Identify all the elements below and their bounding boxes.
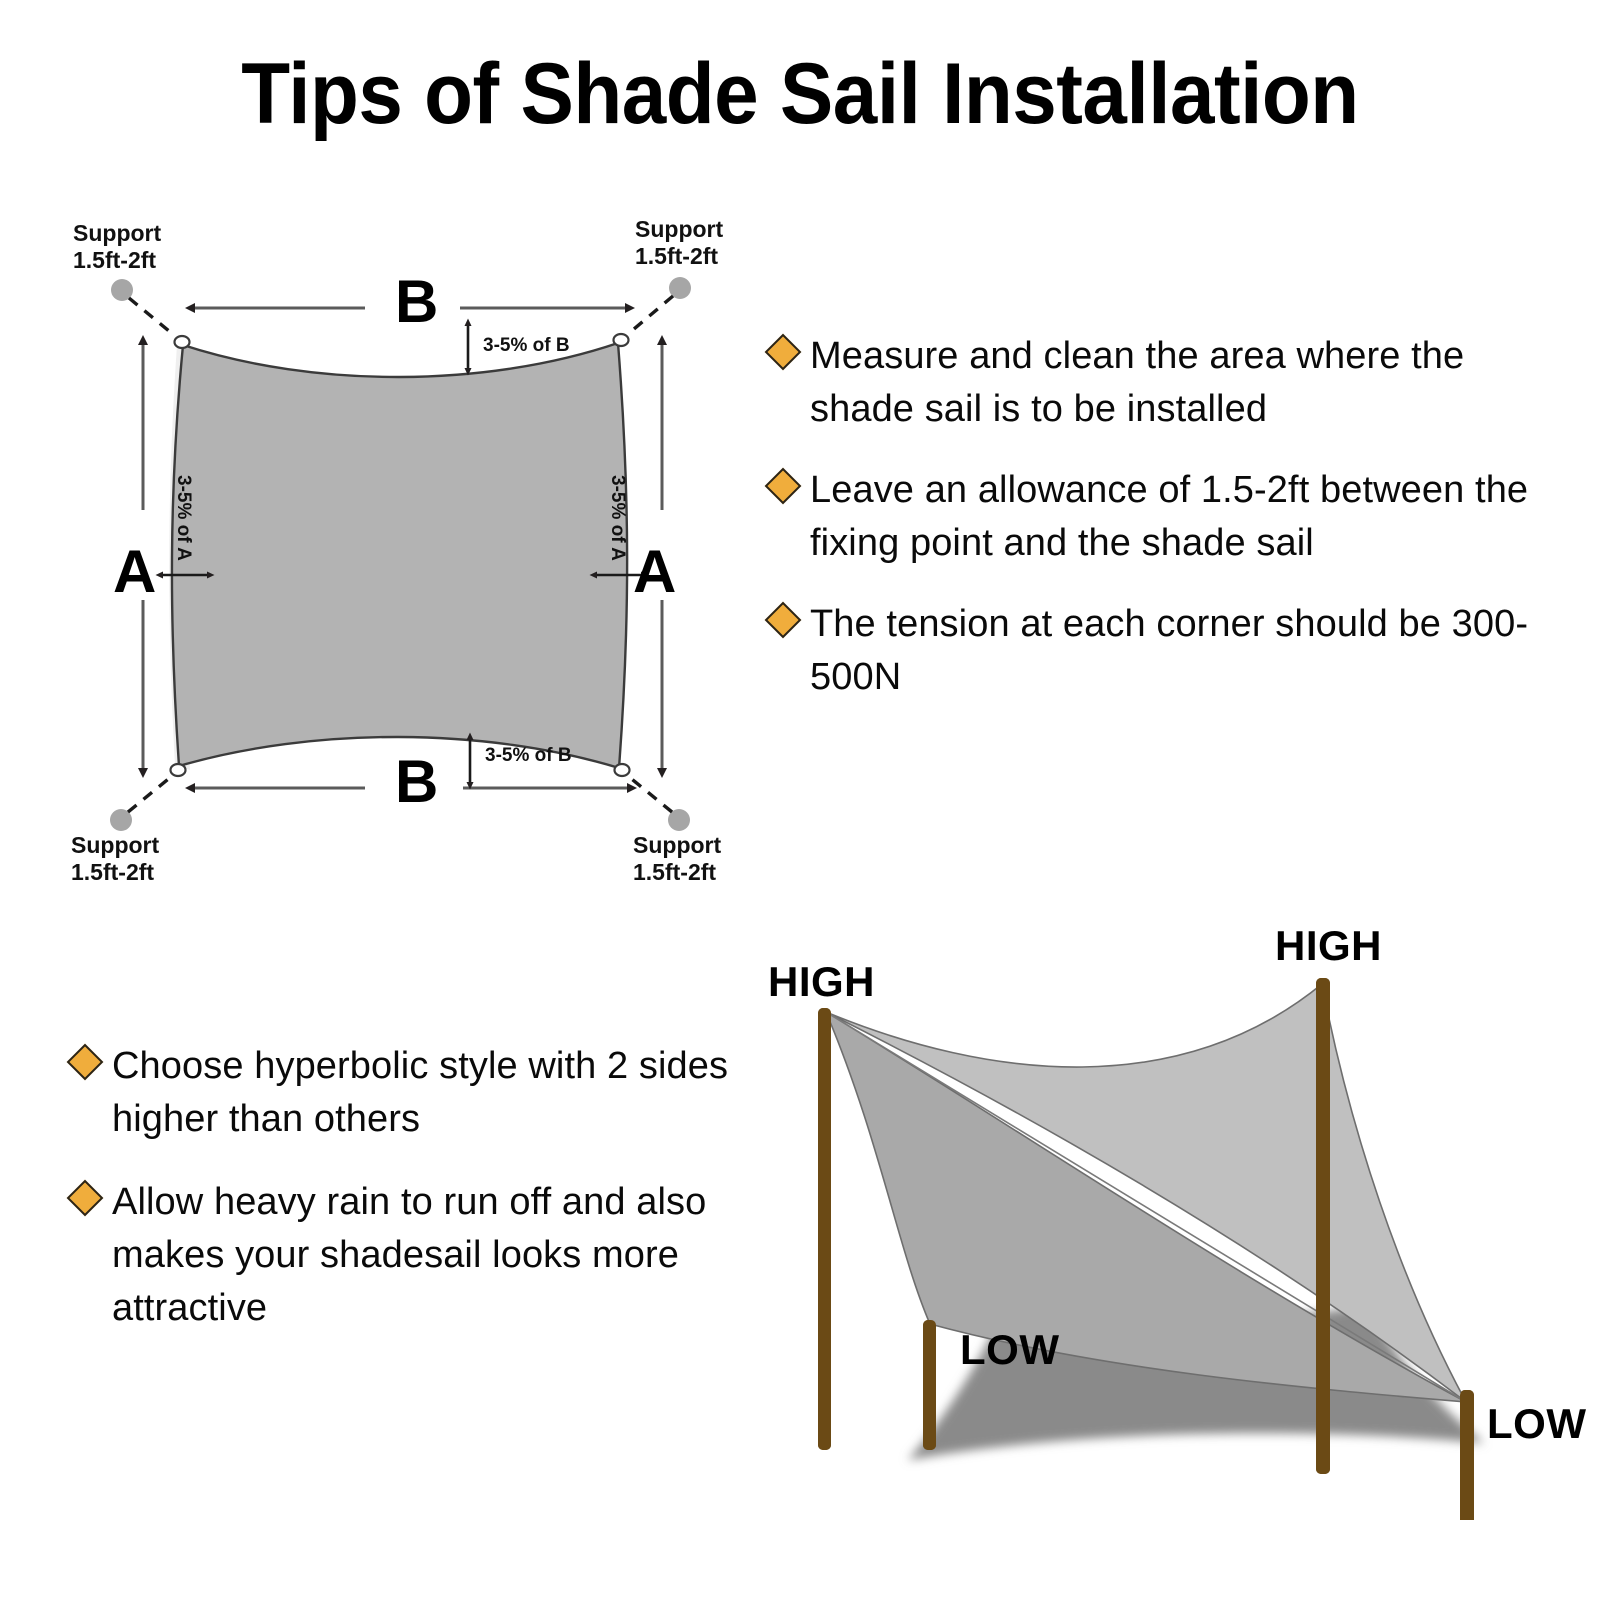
post-right-low-front <box>1460 1390 1474 1520</box>
label-post-left-low: LOW <box>960 1328 1059 1372</box>
list-item-text: Leave an allowance of 1.5-2ft between th… <box>810 464 1560 570</box>
shade-sail-shape <box>172 343 627 768</box>
support-line-bottom-right <box>628 776 672 812</box>
tips-list-right: Measure and clean the area where the sha… <box>770 330 1560 732</box>
diamond-bullet-icon <box>765 468 802 505</box>
post-right-high-front <box>1316 978 1330 1474</box>
label-post-left-high: HIGH <box>768 960 875 1004</box>
infographic-page: Tips of Shade Sail Installation <box>0 0 1600 1600</box>
rectangular-sail-diagram: Support 1.5ft-2ft Support 1.5ft-2ft Supp… <box>55 200 795 900</box>
support-label-bottom-left: Support 1.5ft-2ft <box>71 832 159 886</box>
label-post-right-low: LOW <box>1487 1402 1586 1446</box>
tips-list-left: Choose hyperbolic style with 2 sides hig… <box>72 1040 792 1365</box>
list-item-text: Measure and clean the area where the sha… <box>810 330 1560 436</box>
support-line-top-right <box>628 296 673 334</box>
support-label-line1: Support <box>73 220 161 247</box>
support-label-bottom-right: Support 1.5ft-2ft <box>633 832 721 886</box>
diamond-bullet-icon <box>765 602 802 639</box>
tolerance-label-left: 3-5% of A <box>173 475 194 561</box>
support-label-line2: 1.5ft-2ft <box>71 859 159 886</box>
list-item: The tension at each corner should be 300… <box>770 598 1560 704</box>
dimension-letter-left-a: A <box>113 542 156 602</box>
list-item: Leave an allowance of 1.5-2ft between th… <box>770 464 1560 570</box>
diamond-bullet-icon <box>67 1180 104 1217</box>
diamond-bullet-icon <box>765 334 802 371</box>
list-item: Measure and clean the area where the sha… <box>770 330 1560 436</box>
dimension-letter-bottom-b: B <box>395 752 438 812</box>
tolerance-label-right: 3-5% of A <box>607 475 628 561</box>
page-title: Tips of Shade Sail Installation <box>56 46 1544 142</box>
d-ring-top-right <box>614 334 629 346</box>
list-item-text: The tension at each corner should be 300… <box>810 598 1560 704</box>
label-post-right-high: HIGH <box>1275 924 1382 968</box>
support-label-line2: 1.5ft-2ft <box>635 243 723 270</box>
support-label-line1: Support <box>71 832 159 859</box>
d-ring-bottom-right <box>615 764 630 776</box>
support-label-line1: Support <box>633 832 721 859</box>
diamond-bullet-icon <box>67 1044 104 1081</box>
tolerance-label-bottom: 3-5% of B <box>485 745 572 766</box>
hyperbolic-sail-diagram: HIGH HIGH LOW LOW <box>760 900 1600 1520</box>
dimension-letter-top-b: B <box>395 272 438 332</box>
d-ring-bottom-left <box>171 764 186 776</box>
d-ring-top-left <box>175 336 190 348</box>
support-line-top-left <box>129 298 175 336</box>
hyperbolic-sail-svg <box>760 900 1600 1520</box>
list-item-text: Choose hyperbolic style with 2 sides hig… <box>112 1040 792 1146</box>
support-label-top-left: Support 1.5ft-2ft <box>73 220 161 274</box>
support-line-bottom-left <box>128 776 172 812</box>
list-item-text: Allow heavy rain to run off and also mak… <box>112 1176 792 1335</box>
support-label-line2: 1.5ft-2ft <box>73 247 161 274</box>
support-label-top-right: Support 1.5ft-2ft <box>635 216 723 270</box>
list-item: Allow heavy rain to run off and also mak… <box>72 1176 792 1335</box>
support-label-line1: Support <box>635 216 723 243</box>
list-item: Choose hyperbolic style with 2 sides hig… <box>72 1040 792 1146</box>
post-left-high-front <box>818 1008 831 1450</box>
post-left-low-front <box>923 1320 936 1450</box>
support-label-line2: 1.5ft-2ft <box>633 859 721 886</box>
dimension-letter-right-a: A <box>633 542 676 602</box>
tolerance-label-top: 3-5% of B <box>483 335 570 356</box>
